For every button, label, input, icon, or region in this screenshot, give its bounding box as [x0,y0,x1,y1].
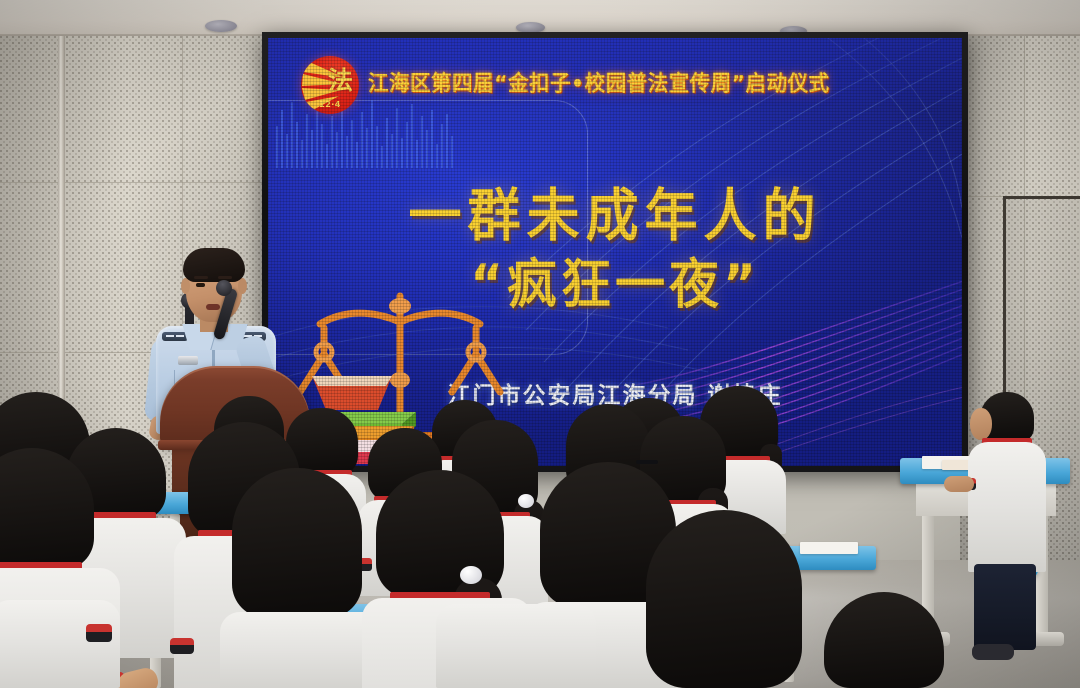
led-presentation-screen: 法 12·4 江海区第四届“金扣子•校园普法宣传周”启动仪式 一群未成年人的 “… [268,38,962,466]
officer-ear [238,278,247,294]
emblem-character: 法 [328,68,353,93]
china-constitution-day-emblem: 法 12·4 [301,56,359,114]
officer-eye [196,283,205,287]
emblem-date-label: 12·4 [301,100,359,109]
officer-mouth [206,304,220,310]
main-title-line1: 一群未成年人的 [409,184,822,249]
officer-eyebrow [194,276,208,279]
eyeglasses-icon [636,460,658,464]
screen-header-title: 江海区第四届“金扣子•校园普法宣传周”启动仪式 [368,65,948,97]
uniform-badge [178,356,198,365]
officer-hair [183,248,245,282]
wall-seam [0,182,280,183]
officer-eyebrow [218,276,232,279]
classroom-photo-scene: 法 12·4 江海区第四届“金扣子•校园普法宣传周”启动仪式 一群未成年人的 “… [0,0,1080,688]
ceiling-speaker-icon [205,20,237,32]
